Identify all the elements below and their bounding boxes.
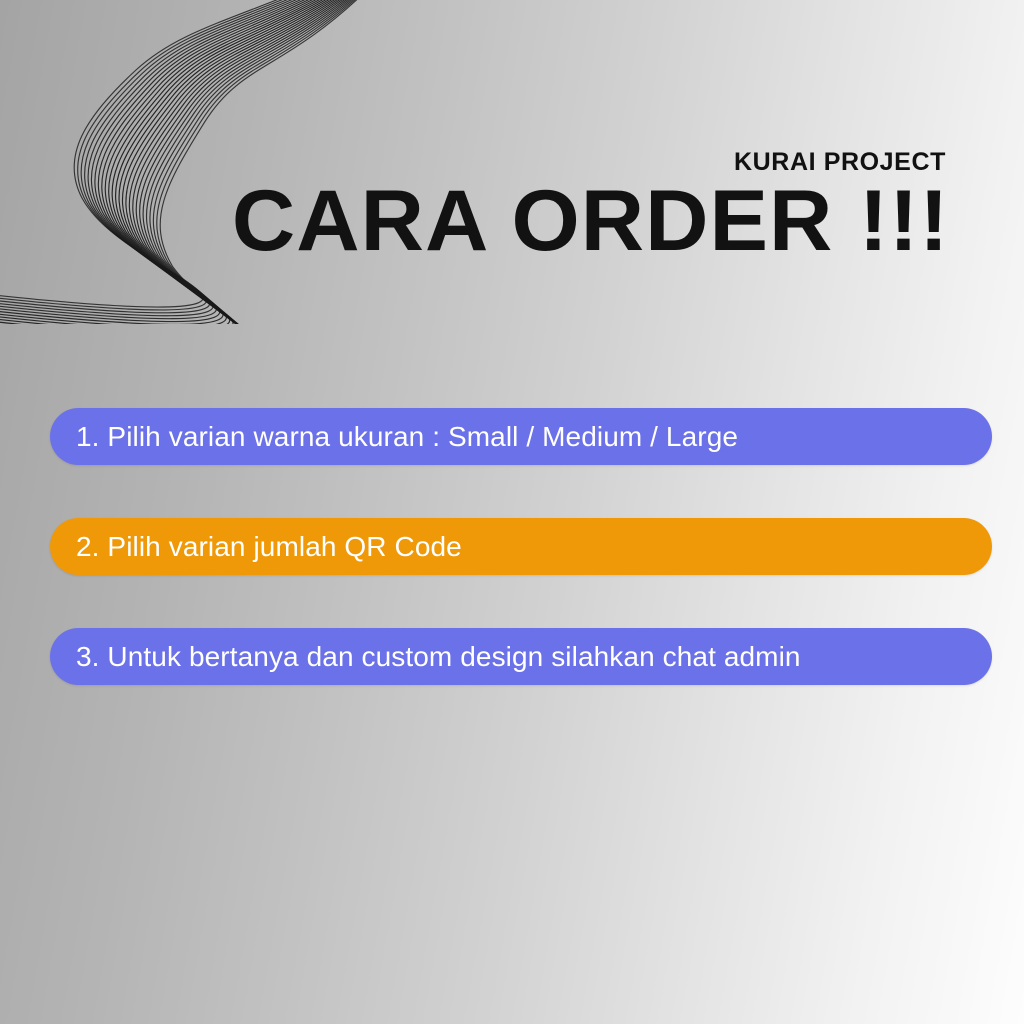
wave-line	[0, 0, 357, 324]
wave-line	[0, 0, 361, 324]
step-3-label: 3. Untuk bertanya dan custom design sila…	[76, 643, 801, 671]
step-2-label: 2. Pilih varian jumlah QR Code	[76, 533, 462, 561]
wave-line	[0, 0, 362, 324]
wave-line	[0, 0, 366, 324]
step-item-3: 3. Untuk bertanya dan custom design sila…	[50, 628, 992, 685]
step-1-label: 1. Pilih varian warna ukuran : Small / M…	[76, 423, 738, 451]
wave-line	[0, 0, 359, 324]
wave-line	[0, 0, 364, 324]
wave-line	[0, 0, 367, 324]
step-item-1: 1. Pilih varian warna ukuran : Small / M…	[50, 408, 992, 465]
wave-line	[0, 0, 358, 324]
wave-line	[0, 0, 365, 324]
wave-line	[0, 0, 363, 324]
wavy-line-ribbon-decoration	[0, 0, 416, 324]
wave-line	[0, 0, 360, 324]
wave-line	[0, 0, 356, 319]
step-item-2: 2. Pilih varian jumlah QR Code	[50, 518, 992, 575]
wave-line	[0, 0, 357, 322]
wave-line	[0, 0, 365, 324]
wave-line	[0, 0, 366, 324]
page-title: CARA ORDER !!!	[232, 178, 950, 264]
wave-line	[0, 0, 360, 324]
wave-line	[0, 0, 358, 324]
wave-line	[0, 0, 363, 324]
steps-list: 1. Pilih varian warna ukuran : Small / M…	[50, 408, 992, 685]
wave-line	[0, 0, 359, 324]
wave-line	[0, 0, 362, 324]
order-instructions-poster: KURAI PROJECT CARA ORDER !!! 1. Pilih va…	[0, 0, 1024, 1024]
wave-line	[0, 0, 364, 324]
wave-line	[0, 0, 361, 324]
